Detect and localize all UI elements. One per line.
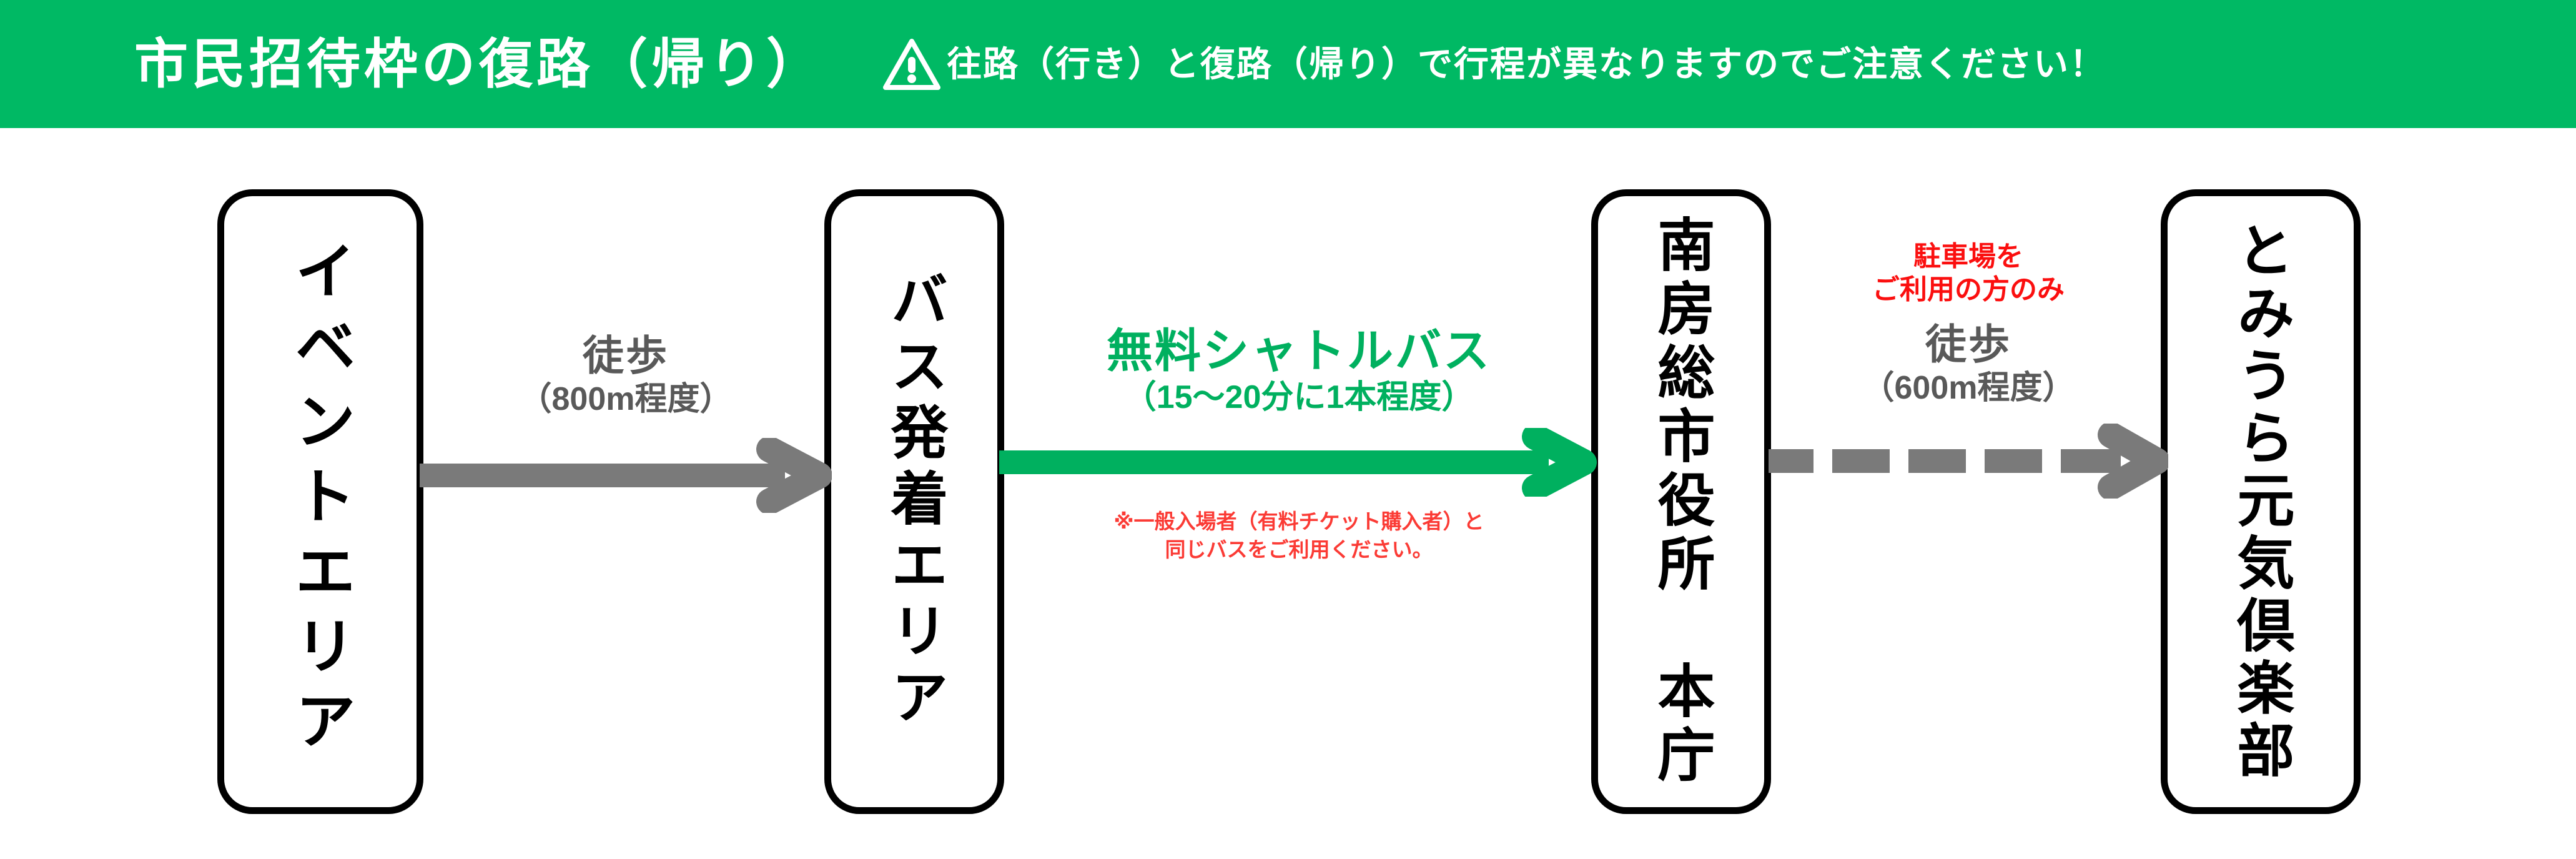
route-diagram: イベントエリア バス発着エリア 南房総市役所 本庁 とみうら元気倶楽部 徒歩 （… xyxy=(0,128,2576,859)
connector-caption: 徒歩 （800m程度） xyxy=(520,334,733,417)
warning-triangle-icon xyxy=(883,38,940,91)
connector-walk-600m: 駐車場を ご利用の方のみ 徒歩 （600m程度） xyxy=(1769,241,2168,499)
arrow-solid-gray-icon xyxy=(420,438,832,513)
connector-detail-label: （800m程度） xyxy=(520,382,733,417)
node-tomiura-club[interactable]: とみうら元気倶楽部 xyxy=(2161,189,2361,814)
connector-mode-label: 徒歩 xyxy=(520,334,733,377)
node-label: とみうら元気倶楽部 xyxy=(2232,221,2289,783)
arrow-dashed-gray-icon xyxy=(1769,424,2168,499)
connector-mode-label: 徒歩 xyxy=(1862,323,2075,366)
connector-caption: 徒歩 （600m程度） xyxy=(1862,323,2075,405)
connector-note-above-line1: 駐車場を xyxy=(1913,241,2023,272)
connector-note-line1: ※一般入場者（有料チケット購入者）と xyxy=(1113,510,1484,533)
connector-mode-label: 無料シャトルバス xyxy=(1107,327,1491,375)
connector-caption: 無料シャトルバス （15〜20分に1本程度） xyxy=(1107,327,1491,414)
header-warning-text: 往路（行き）と復路（帰り）で行程が異なりますのでご注意ください！ xyxy=(947,47,2106,82)
connector-note-above: 駐車場を ご利用の方のみ xyxy=(1872,241,2065,307)
node-label: バス発着エリア xyxy=(886,270,943,733)
connector-detail-label: （15〜20分に1本程度） xyxy=(1107,380,1491,415)
node-city-hall[interactable]: 南房総市役所 本庁 xyxy=(1591,189,1771,814)
page-title: 市民招待枠の復路（帰り） xyxy=(134,37,824,91)
arrow-solid-green-icon xyxy=(999,428,1599,497)
node-label: イベントエリア xyxy=(290,239,351,764)
header-warning: 往路（行き）と復路（帰り）で行程が異なりますのでご注意ください！ xyxy=(883,38,2106,91)
node-label: 南房総市役所 本庁 xyxy=(1652,215,1710,788)
connector-walk-800m: 徒歩 （800m程度） xyxy=(420,334,832,513)
connector-free-shuttle-bus: 無料シャトルバス （15〜20分に1本程度） ※一般入場者（有料チケット購入者）… xyxy=(999,327,1599,564)
node-event-area[interactable]: イベントエリア xyxy=(217,189,423,814)
connector-note-line2: 同じバスをご利用ください。 xyxy=(1165,538,1433,561)
connector-detail-label: （600m程度） xyxy=(1862,371,2075,405)
header-bar: 市民招待枠の復路（帰り） 往路（行き）と復路（帰り）で行程が異なりますのでご注意… xyxy=(0,0,2576,128)
connector-note-above-line2: ご利用の方のみ xyxy=(1872,274,2065,305)
node-bus-area[interactable]: バス発着エリア xyxy=(824,189,1004,814)
connector-note: ※一般入場者（有料チケット購入者）と 同じバスをご利用ください。 xyxy=(1113,508,1484,564)
